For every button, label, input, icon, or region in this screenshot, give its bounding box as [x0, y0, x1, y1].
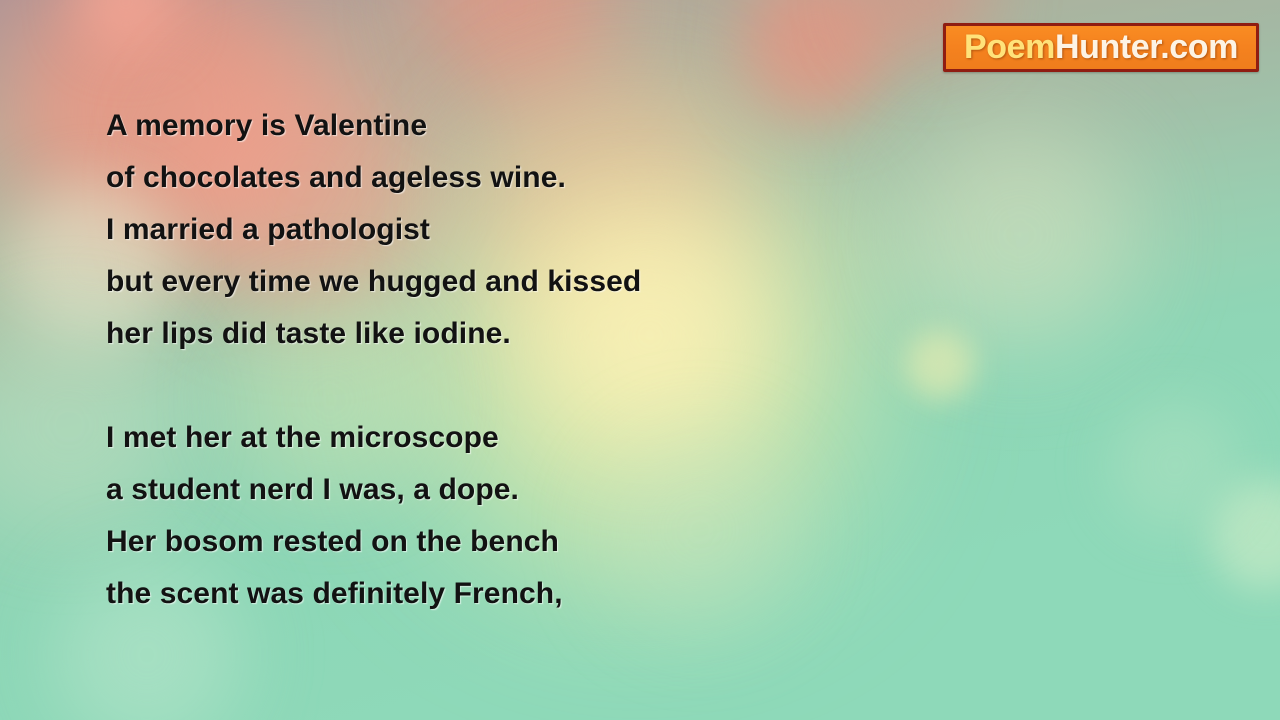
poem-text: A memory is Valentineof chocolates and a…	[106, 100, 866, 620]
poem-card: A memory is Valentineof chocolates and a…	[0, 0, 1280, 720]
logo-wordmark: PoemHunter.com	[964, 30, 1238, 66]
poem-line: but every time we hugged and kissed	[106, 256, 866, 308]
poem-line-blank	[106, 360, 866, 412]
poemhunter-logo[interactable]: PoemHunter.com	[943, 23, 1259, 72]
poem-line: of chocolates and ageless wine.	[106, 152, 866, 204]
logo-word-tld: .com	[1160, 28, 1238, 66]
logo-word-poem: Poem	[964, 28, 1055, 66]
poem-line: I met her at the microscope	[106, 412, 866, 464]
poem-line: I married a pathologist	[106, 204, 866, 256]
poem-line: the scent was definitely French,	[106, 568, 866, 620]
poem-line: Her bosom rested on the bench	[106, 516, 866, 568]
poem-line: a student nerd I was, a dope.	[106, 464, 866, 516]
poem-line: her lips did taste like iodine.	[106, 308, 866, 360]
poem-line: A memory is Valentine	[106, 100, 866, 152]
logo-word-hunter: Hunter	[1055, 28, 1160, 66]
